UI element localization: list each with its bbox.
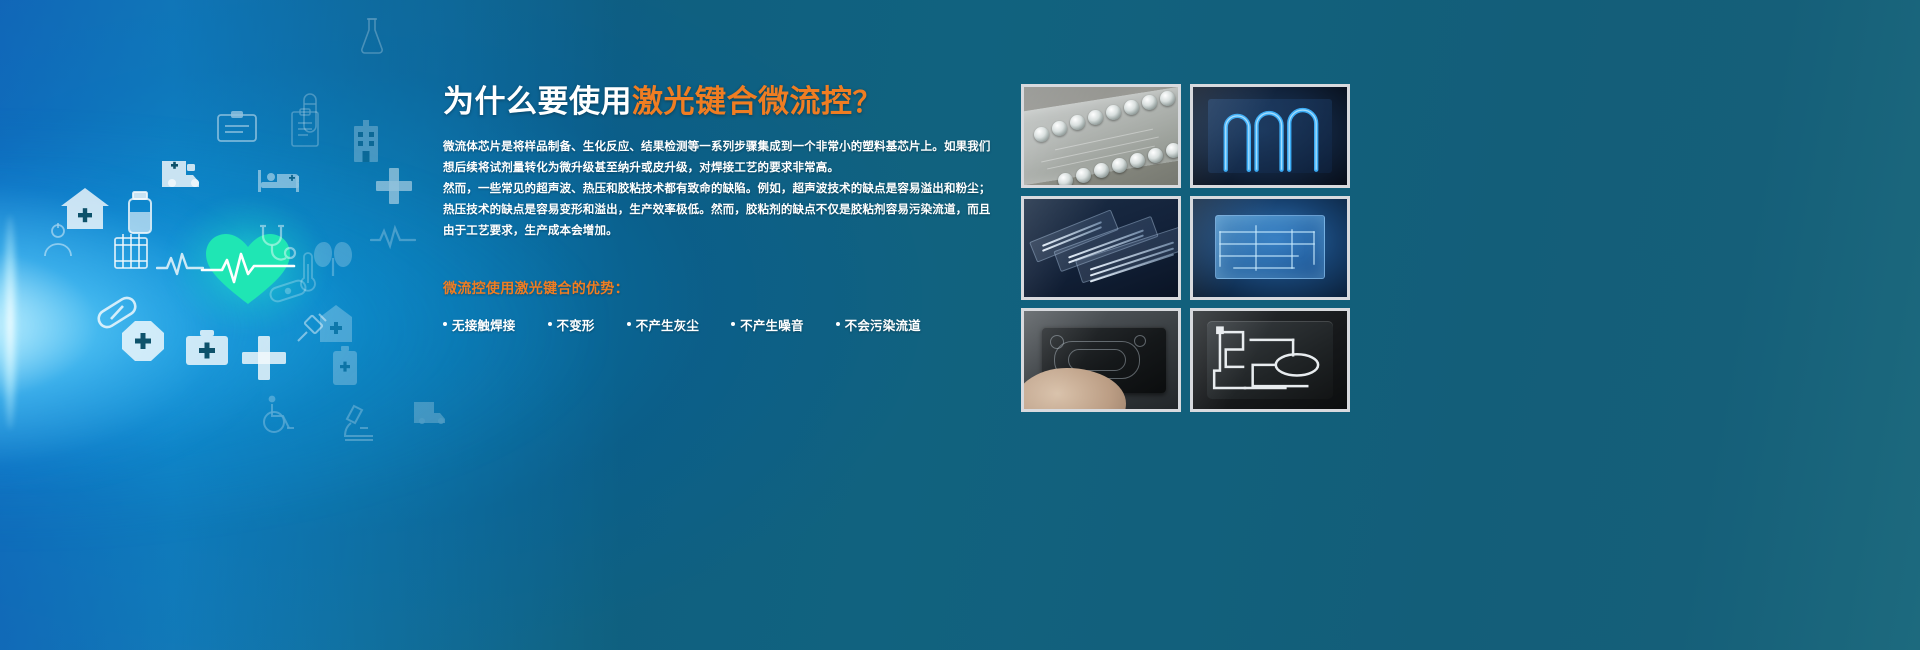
ambulance-icon [412,398,452,424]
advantages-title: 微流控使用激光键合的优势： [443,278,988,298]
hospital-building-icon [352,120,380,162]
syringe-icon [295,310,329,344]
id-card-icon [217,110,257,142]
paragraph-line-3: 然而，一些常见的超声波、热压和胶粘技术都有致命的缺陷。例如，超声波技术的缺点是容… [443,179,988,200]
ambulance-icon [160,155,208,187]
headline-prefix: 为什么要使用 [443,84,632,119]
advantage-label: 不变形 [557,315,595,334]
photo-dark-slides-with-channels [1021,196,1181,300]
photo-blue-serpentine-channel-chip [1190,84,1350,188]
battery-icon [332,346,358,386]
advantage-item: 不变形 [548,315,595,334]
body-paragraph: 微流体芯片是将样品制备、生化反应、结果检测等一系列步骤集成到一个非常小的塑料基芯… [443,137,988,242]
paragraph-line-2: 想后续将试剂量转化为微升级甚至纳升或皮升级，对焊接工艺的要求非常高。 [443,158,988,179]
advantages-list: 无接触焊接 不变形 不产生灰尘 不产生噪音 不会污染流道 [443,315,988,334]
copy-block: 为什么要使用激光键合微流控？ 微流体芯片是将样品制备、生化反应、结果检测等一系列… [443,84,988,334]
ecg-line-icon [156,250,204,278]
headline-accent: 激光键合微流控 [632,84,853,119]
test-tube-rack-icon [112,232,150,272]
ecg-line-icon [370,224,416,250]
photo-black-cartridge-channel-network [1190,308,1350,412]
product-photo-grid [1021,84,1350,412]
page-title: 为什么要使用激光键合微流控？ [443,84,988,121]
medicine-bottle-icon [125,190,157,236]
advantage-label: 无接触焊接 [452,315,516,334]
doctor-avatar-icon [42,222,74,258]
bullet-dot-icon [731,322,735,326]
stethoscope-icon [255,224,299,268]
photo-clear-microfluidic-strip-with-ports [1021,84,1181,188]
advantage-label: 不会污染流道 [845,315,921,334]
wheelchair-icon [258,394,296,434]
bullet-dot-icon [443,322,447,326]
advantage-item: 不会污染流道 [836,315,921,334]
advantage-item: 无接触焊接 [443,315,516,334]
microscope-icon [340,402,378,444]
advantage-item: 不产生噪音 [731,315,804,334]
flask-icon [358,16,386,56]
promo-banner: 为什么要使用激光键合微流控？ 微流体芯片是将样品制备、生化反应、结果检测等一系列… [0,0,1920,650]
medical-cross-icon [122,320,164,362]
plus-cross-icon [242,336,286,380]
paragraph-line-4: 热压技术的缺点是容易变形和溢出，生产效率极低。然而，胶粘剂的缺点不仅是胶粘剂容易… [443,200,988,221]
bullet-dot-icon [627,322,631,326]
paragraph-line-5: 由于工艺要求，生产成本会增加。 [443,221,988,242]
bullet-dot-icon [548,322,552,326]
advantage-label: 不产生灰尘 [636,315,700,334]
advantage-label: 不产生噪音 [740,315,804,334]
thermometer-icon [296,250,320,294]
clipboard-icon [290,108,320,148]
photo-black-chip-held-in-hand [1021,308,1181,412]
bullet-dot-icon [836,322,840,326]
plus-cross-icon [376,168,412,204]
advantage-item: 不产生灰尘 [627,315,700,334]
hospital-bed-icon [258,166,302,194]
first-aid-kit-icon [186,330,228,366]
headline-question-mark: ？ [853,87,883,119]
paragraph-line-1: 微流体芯片是将样品制备、生化反应、结果检测等一系列步骤集成到一个非常小的塑料基芯… [443,137,988,158]
photo-blue-transparent-manifold-block [1190,196,1350,300]
